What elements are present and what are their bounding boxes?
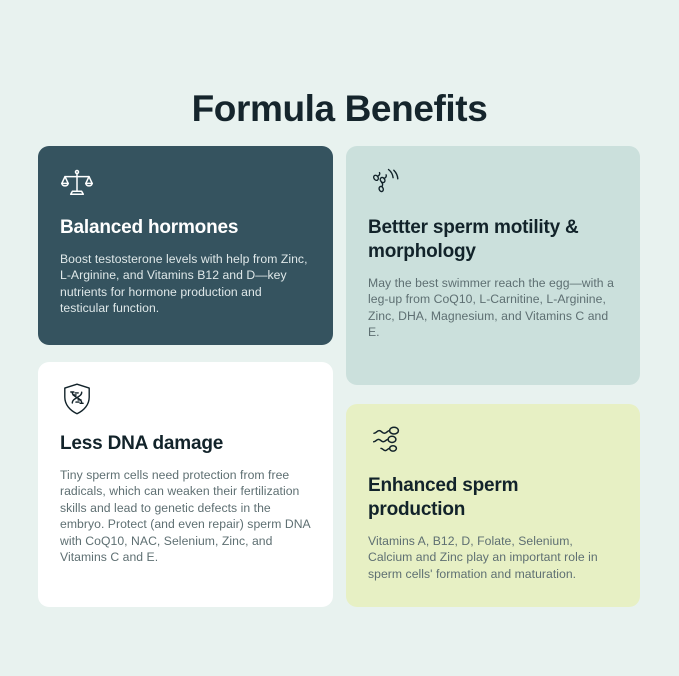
page-title: Formula Benefits: [0, 89, 679, 130]
shield-dna-icon: [60, 382, 311, 416]
card-body: Vitamins A, B12, D, Folate, Selenium, Ca…: [368, 533, 618, 583]
card-body: Boost testosterone levels with help from…: [60, 251, 311, 317]
sperm-swimming-icon: [368, 166, 618, 200]
benefit-card-balanced-hormones: Balanced hormones Boost testosterone lev…: [38, 146, 333, 345]
card-title: Balanced hormones: [60, 216, 311, 240]
benefit-card-enhanced-sperm-production: Enhanced sperm production Vitamins A, B1…: [346, 404, 640, 607]
card-title: Enhanced sperm production: [368, 474, 618, 522]
benefit-card-less-dna-damage: Less DNA damage Tiny sperm cells need pr…: [38, 362, 333, 607]
formula-benefits-section: Formula Benefits Balanced hormones Boost…: [0, 0, 679, 676]
balance-scale-icon: [60, 166, 311, 200]
card-body: Tiny sperm cells need protection from fr…: [60, 467, 311, 566]
sperm-trio-icon: [368, 424, 618, 458]
card-title: Bettter sperm motility & morphology: [368, 216, 618, 264]
benefit-card-better-sperm-motility: Bettter sperm motility & morphology May …: [346, 146, 640, 385]
card-body: May the best swimmer reach the egg—with …: [368, 275, 618, 341]
card-title: Less DNA damage: [60, 432, 311, 456]
